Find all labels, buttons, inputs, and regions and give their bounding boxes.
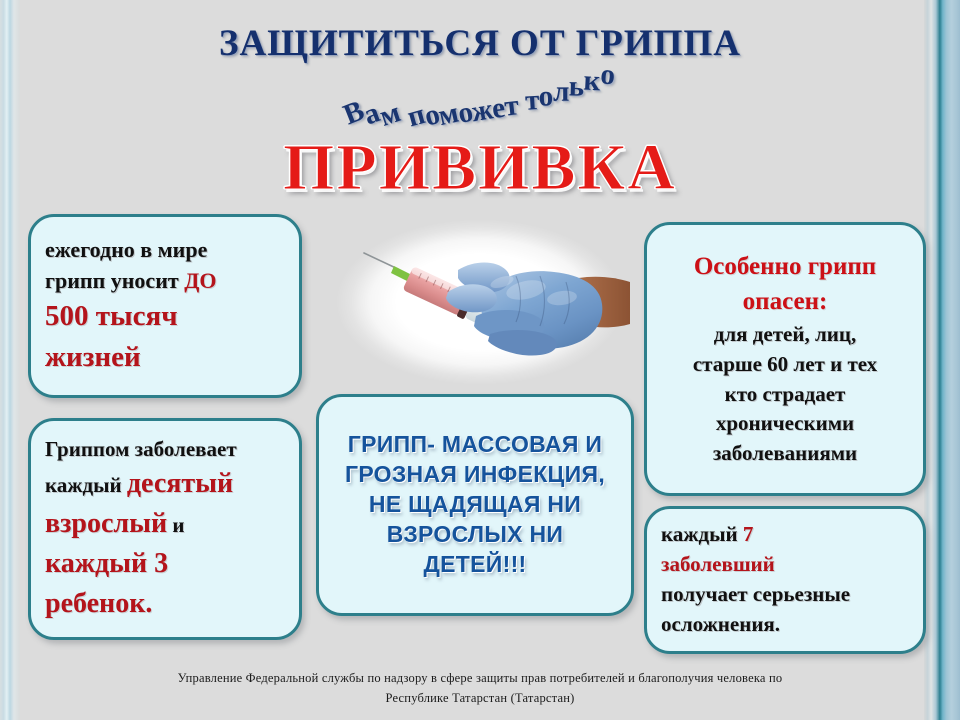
danger-head1: Особенно грипп	[661, 249, 909, 285]
center-line3: НЕ ЩАДЯЩАЯ НИ	[333, 490, 617, 520]
center-line4: ВЗРОСЛЫХ НИ	[333, 520, 617, 550]
center-line2: ГРОЗНАЯ ИНФЕКЦИЯ,	[333, 460, 617, 490]
arched-subtitle-text: Вам поможет только	[342, 58, 617, 131]
syringe-photo	[330, 212, 630, 392]
ratio-line1: Гриппом заболевает	[45, 435, 285, 465]
annual-line2: грипп уносит ДО	[45, 265, 285, 296]
syringe-illustration	[330, 212, 630, 392]
complication-line4: осложнения.	[661, 610, 909, 640]
danger-line1: для детей, лиц,	[661, 320, 909, 350]
ratio-line2: каждый десятый	[45, 464, 285, 504]
annual-line4: жизней	[45, 337, 285, 378]
ratio-line5: ребенок.	[45, 584, 285, 624]
annual-line1: ежегодно в мире	[45, 234, 285, 265]
danger-line3: кто страдает	[661, 380, 909, 410]
danger-line2: старше 60 лет и тех	[661, 350, 909, 380]
info-box-annual-deaths: ежегодно в мире грипп уносит ДО 500 тыся…	[28, 214, 302, 398]
footer-line2: Республике Татарстан (Татарстан)	[60, 688, 900, 708]
center-line5: ДЕТЕЙ!!!	[333, 550, 617, 580]
info-box-complications: каждый 7 заболевший получает серьезные о…	[644, 506, 926, 654]
info-box-illness-ratio: Гриппом заболевает каждый десятый взросл…	[28, 418, 302, 640]
danger-line5: заболеваниями	[661, 439, 909, 469]
info-box-center-warning: ГРИПП- МАССОВАЯ И ГРОЗНАЯ ИНФЕКЦИЯ, НЕ Щ…	[316, 394, 634, 616]
danger-line4: хроническими	[661, 409, 909, 439]
complication-line3: получает серьезные	[661, 580, 909, 610]
complication-line1: каждый 7	[661, 520, 909, 550]
info-box-especially-dangerous: Особенно грипп опасен: для детей, лиц, с…	[644, 222, 926, 496]
arched-subtitle: Вам поможет только	[0, 78, 960, 138]
center-line1: ГРИПП- МАССОВАЯ И	[333, 430, 617, 460]
footer-line1: Управление Федеральной службы по надзору…	[60, 668, 900, 688]
ratio-line3: взрослый и	[45, 504, 285, 544]
page-title: ЗАЩИТИТЬСЯ ОТ ГРИППА	[0, 22, 960, 65]
ratio-line4: каждый 3	[45, 544, 285, 584]
footer-agency: Управление Федеральной службы по надзору…	[60, 668, 900, 708]
annual-line3: 500 тысяч	[45, 296, 285, 337]
danger-head2: опасен:	[661, 284, 909, 320]
headline-vaccination: ПРИВИВКА	[0, 130, 960, 206]
complication-line2: заболевший	[661, 550, 909, 580]
poster-canvas: ЗАЩИТИТЬСЯ ОТ ГРИППА Вам поможет только …	[0, 0, 960, 720]
